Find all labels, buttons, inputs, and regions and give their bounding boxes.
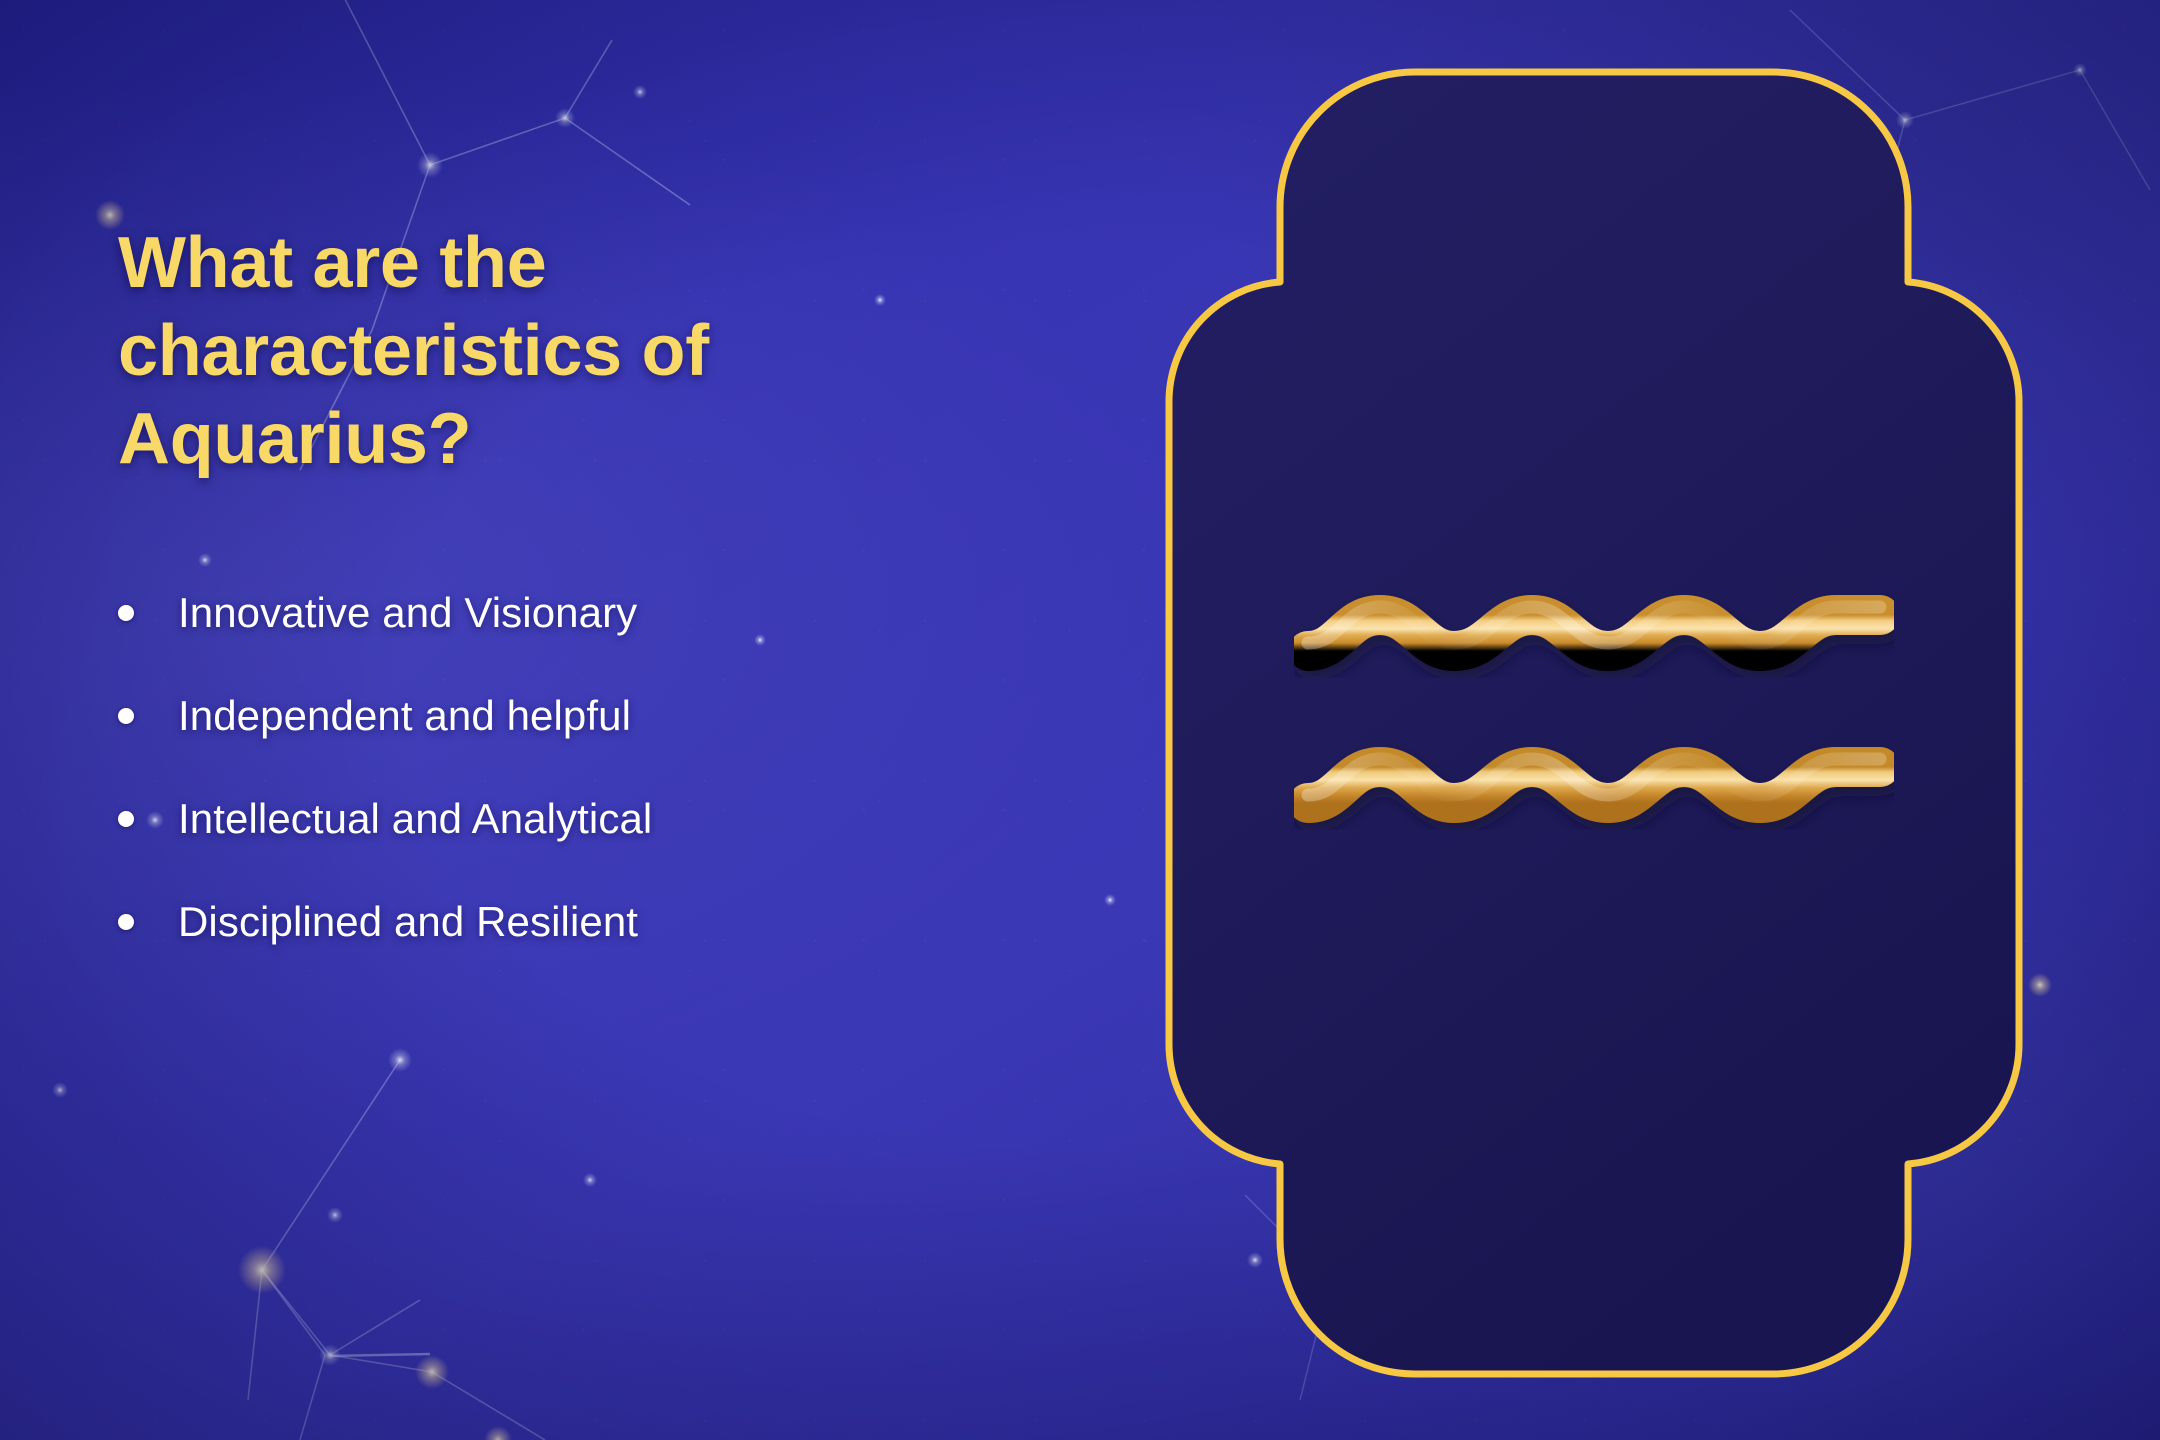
bullet-dot-icon xyxy=(118,914,134,930)
aquarius-wave-top xyxy=(1308,607,1880,651)
list-item-label: Innovative and Visionary xyxy=(178,589,637,637)
page-title: What are the characteristics of Aquarius… xyxy=(118,220,938,483)
list-item: Intellectual and Analytical xyxy=(118,795,1048,843)
bullet-dot-icon xyxy=(118,605,134,621)
list-item-label: Independent and helpful xyxy=(178,692,631,740)
content-column: What are the characteristics of Aquarius… xyxy=(118,220,1048,946)
aquarius-symbol xyxy=(1294,593,1894,853)
aquarius-waves-icon xyxy=(1294,593,1894,853)
bullet-dot-icon xyxy=(118,811,134,827)
list-item: Independent and helpful xyxy=(118,692,1048,740)
page-title-line-2: characteristics of xyxy=(118,311,709,391)
list-item: Innovative and Visionary xyxy=(118,589,1048,637)
list-item-label: Intellectual and Analytical xyxy=(178,795,652,843)
list-item-label: Disciplined and Resilient xyxy=(178,898,638,946)
characteristics-list: Innovative and Visionary Independent and… xyxy=(118,589,1048,946)
bullet-dot-icon xyxy=(118,708,134,724)
page-title-line-3: Aquarius? xyxy=(118,399,471,479)
page-title-line-1: What are the xyxy=(118,223,546,303)
zodiac-card xyxy=(1165,68,2023,1378)
aquarius-wave-bottom xyxy=(1308,759,1880,803)
list-item: Disciplined and Resilient xyxy=(118,898,1048,946)
